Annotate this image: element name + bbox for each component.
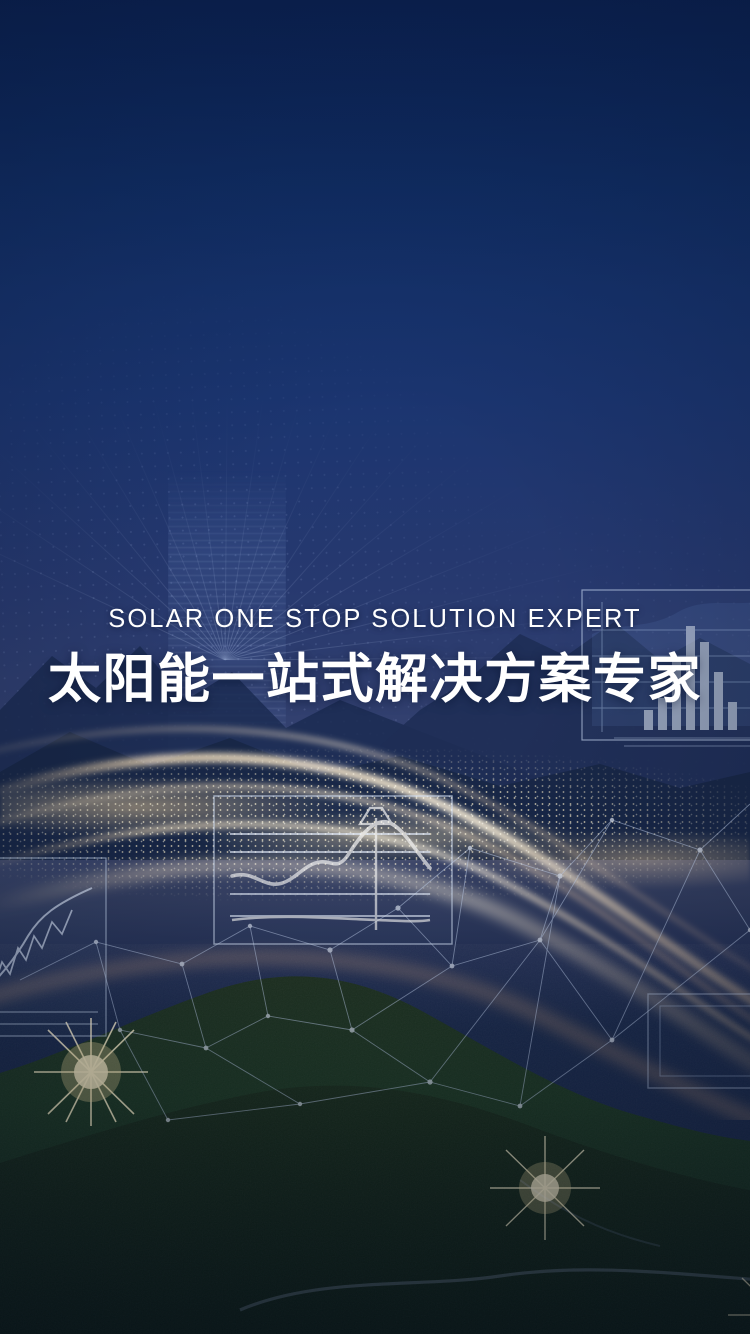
hero-copy-block: SOLAR ONE STOP SOLUTION EXPERT 太阳能一站式解决方… (0, 604, 750, 711)
hero-headline-text: 太阳能一站式解决方案专家 (0, 649, 750, 712)
hero-eyebrow-text: SOLAR ONE STOP SOLUTION EXPERT (0, 604, 750, 635)
hero-banner: SOLAR ONE STOP SOLUTION EXPERT 太阳能一站式解决方… (0, 0, 750, 1334)
